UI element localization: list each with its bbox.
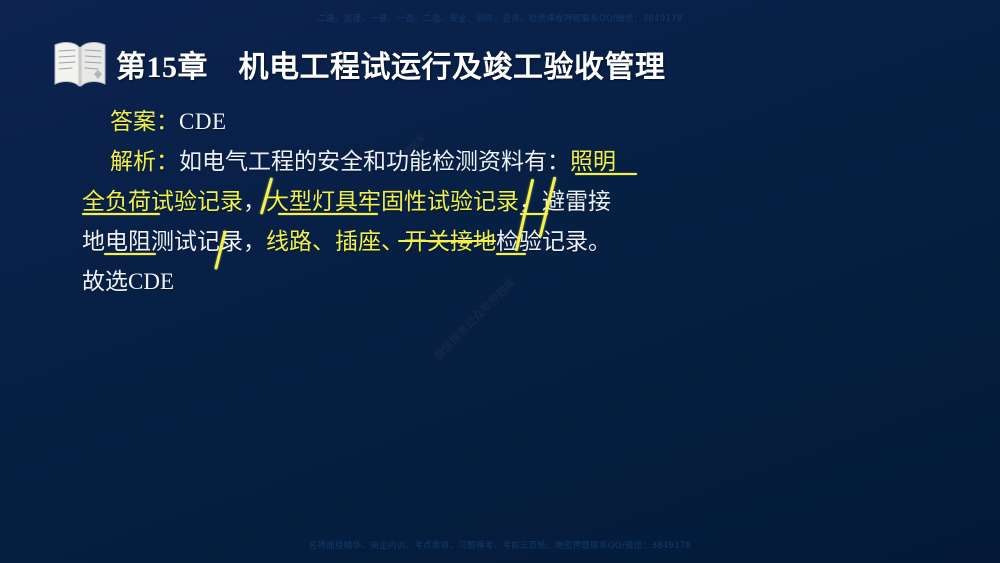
underline-quanfuhe xyxy=(82,213,160,215)
bottom-ad-banner: 名师面授精华、央企内训、考点串讲、习题模考、考前三页纸、绝密押题联系QQ/微信：… xyxy=(0,539,1000,551)
slide-body: 答案：CDE 解析：如电气工程的安全和功能检测资料有：照明 全负荷试验记录，大型… xyxy=(82,102,682,302)
underline-diandianzu xyxy=(104,253,156,255)
slide-header: 第15章 机电工程试运行及竣工验收管理 xyxy=(52,34,666,94)
answer-value: CDE xyxy=(179,109,227,134)
analysis-highlight-dengju: 大型灯具牢固性试验记录 xyxy=(266,189,519,214)
answer-label: 答案： xyxy=(110,109,179,134)
analysis-text-3b: 检验记录。 xyxy=(496,229,611,254)
analysis-highlight-zhaoming: 照明 xyxy=(570,149,616,174)
analysis-line-2: 全负荷试验记录，大型灯具牢固性试验记录，避雷接 xyxy=(82,182,682,222)
top-ad-banner: 二建、监理、一建、一造、二造、安全、消防、咨询、检测课程押题联系QQ/微信：38… xyxy=(0,12,1000,24)
open-book-icon xyxy=(52,39,108,89)
conclusion-line: 故选CDE xyxy=(82,262,682,302)
analysis-line-3: 地电阻测试记录，线路、插座、开关接地检验记录。 xyxy=(82,222,682,262)
analysis-text-3a: 地电阻测试记录， xyxy=(82,229,266,254)
underline-jianyan xyxy=(496,253,526,255)
analysis-highlight-quanfuhe: 全负荷试验记录 xyxy=(82,189,243,214)
underline-dengju xyxy=(278,213,378,215)
page-title: 第15章 机电工程试运行及竣工验收管理 xyxy=(116,42,666,86)
analysis-line-1: 解析：如电气工程的安全和功能检测资料有：照明 xyxy=(82,142,682,182)
answer-line: 答案：CDE xyxy=(82,102,682,142)
analysis-label: 解析： xyxy=(110,149,179,174)
underline-zhaoming xyxy=(575,173,637,175)
strikethrough-kaiguanjiedi xyxy=(398,240,496,242)
slide-canvas: 二建、监理、一建、一造、二造、安全、消防、咨询、检测课程押题联系QQ/微信：38… xyxy=(0,0,1000,563)
conclusion-text: 故选CDE xyxy=(82,269,174,294)
analysis-text-1: 如电气工程的安全和功能检测资料有： xyxy=(179,149,570,174)
